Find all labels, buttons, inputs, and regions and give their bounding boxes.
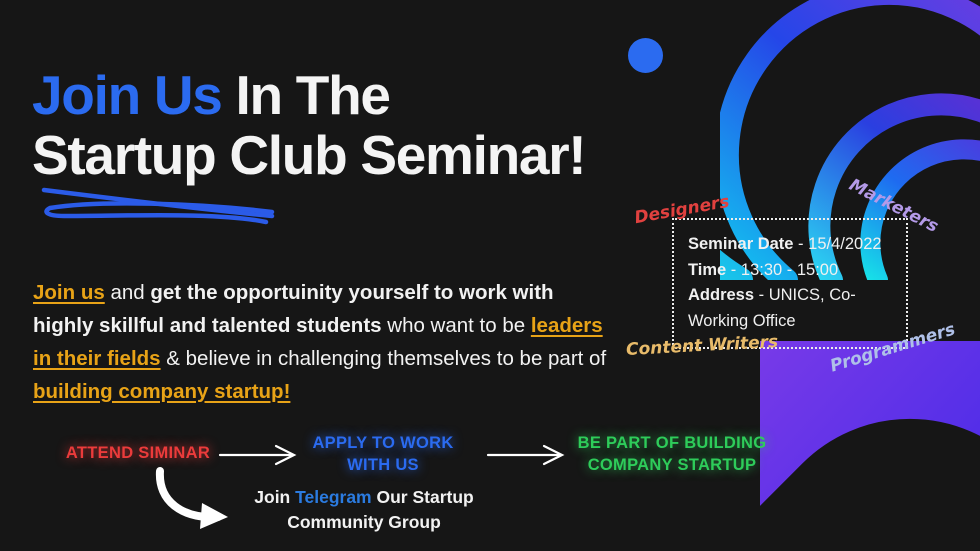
squiggle-underline-icon <box>38 182 278 224</box>
body-text-3: & believe in challenging themselves to b… <box>161 347 607 370</box>
headline-accent: Join Us <box>32 64 222 126</box>
info-row-time: Time - 13:30 - 15:00 <box>688 258 903 284</box>
arrow-right-icon-1 <box>218 443 302 465</box>
flow-step-apply-to-work[interactable]: APPLY TO WORK WITH US <box>294 432 472 476</box>
info-row-address: Address - UNICS, Co-Working Office <box>688 283 903 334</box>
telegram-community-note: Join Telegram Our Startup Community Grou… <box>230 485 498 535</box>
process-flow: ATTEND SIMINAR APPLY TO WORK WITH US BE … <box>0 425 980 551</box>
flow-step-be-part[interactable]: BE PART OF BUILDING COMPANY STARTUP <box>566 432 778 476</box>
role-label-content-writers: Content Writers <box>626 332 779 360</box>
telegram-brand-link[interactable]: Telegram <box>295 487 372 507</box>
info-row-date: Seminar Date - 15/4/2022 <box>688 232 903 258</box>
info-sep-time: - <box>726 261 741 279</box>
building-startup-link[interactable]: building company startup! <box>33 380 290 403</box>
telegram-pre: Join <box>254 487 295 507</box>
info-sep-address: - <box>754 286 769 304</box>
body-bold-2: and talented students <box>164 314 382 337</box>
body-text-1: and <box>105 281 151 304</box>
page-title: Join Us In The Startup Club Seminar! <box>32 65 792 186</box>
poster-canvas: Join Us In The Startup Club Seminar! Joi… <box>0 0 980 551</box>
headline-line2: Startup Club Seminar! <box>32 125 792 186</box>
headline-line1-rest: In The <box>222 64 390 126</box>
join-us-link[interactable]: Join us <box>33 281 105 304</box>
seminar-info-text: Seminar Date - 15/4/2022 Time - 13:30 - … <box>688 232 903 334</box>
info-sep-date: - <box>793 235 808 253</box>
info-label-time: Time <box>688 261 726 279</box>
arrow-right-icon-2 <box>486 443 570 465</box>
body-text-2: who want to be <box>382 314 531 337</box>
body-paragraph: Join us and get the opportuinity yoursel… <box>33 276 608 408</box>
info-label-date: Seminar Date <box>688 235 793 253</box>
blue-dot-icon <box>628 38 663 73</box>
info-value-date: 15/4/2022 <box>808 235 881 253</box>
flow-step-attend-seminar[interactable]: ATTEND SIMINAR <box>48 442 228 464</box>
info-value-time: 13:30 - 15:00 <box>741 261 838 279</box>
info-label-address: Address <box>688 286 754 304</box>
